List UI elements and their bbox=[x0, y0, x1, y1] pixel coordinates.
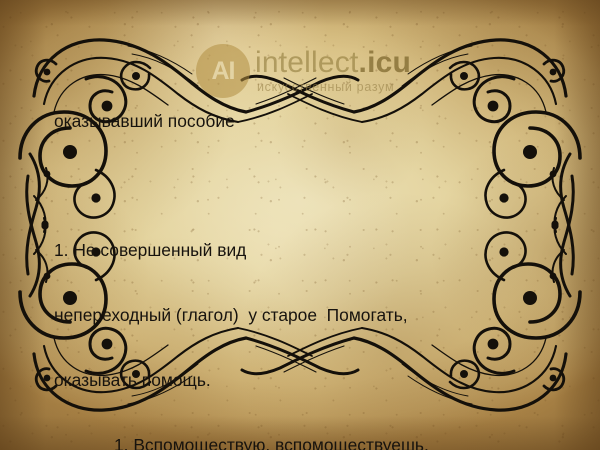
page-heading: оказывавший пособие bbox=[54, 111, 560, 133]
body-line-2: оказывать помощь. bbox=[54, 370, 560, 392]
page-text: оказывавший пособие 1. Не совершенный ви… bbox=[54, 68, 560, 450]
edge-shadow-right bbox=[554, 0, 600, 450]
edge-shadow-top bbox=[0, 0, 600, 26]
indented-definition-line: 1. Вспомоществую, вспомоществуешь, bbox=[54, 435, 560, 450]
body-line-0: 1. Не совершенный вид bbox=[54, 240, 560, 262]
parchment-page: AI intellect.icu искусственный разум ока… bbox=[0, 0, 600, 450]
text-gap bbox=[54, 176, 560, 197]
body-line-1: непереходный (глагол) у старое Помогать, bbox=[54, 305, 560, 327]
edge-shadow-left bbox=[0, 0, 46, 450]
